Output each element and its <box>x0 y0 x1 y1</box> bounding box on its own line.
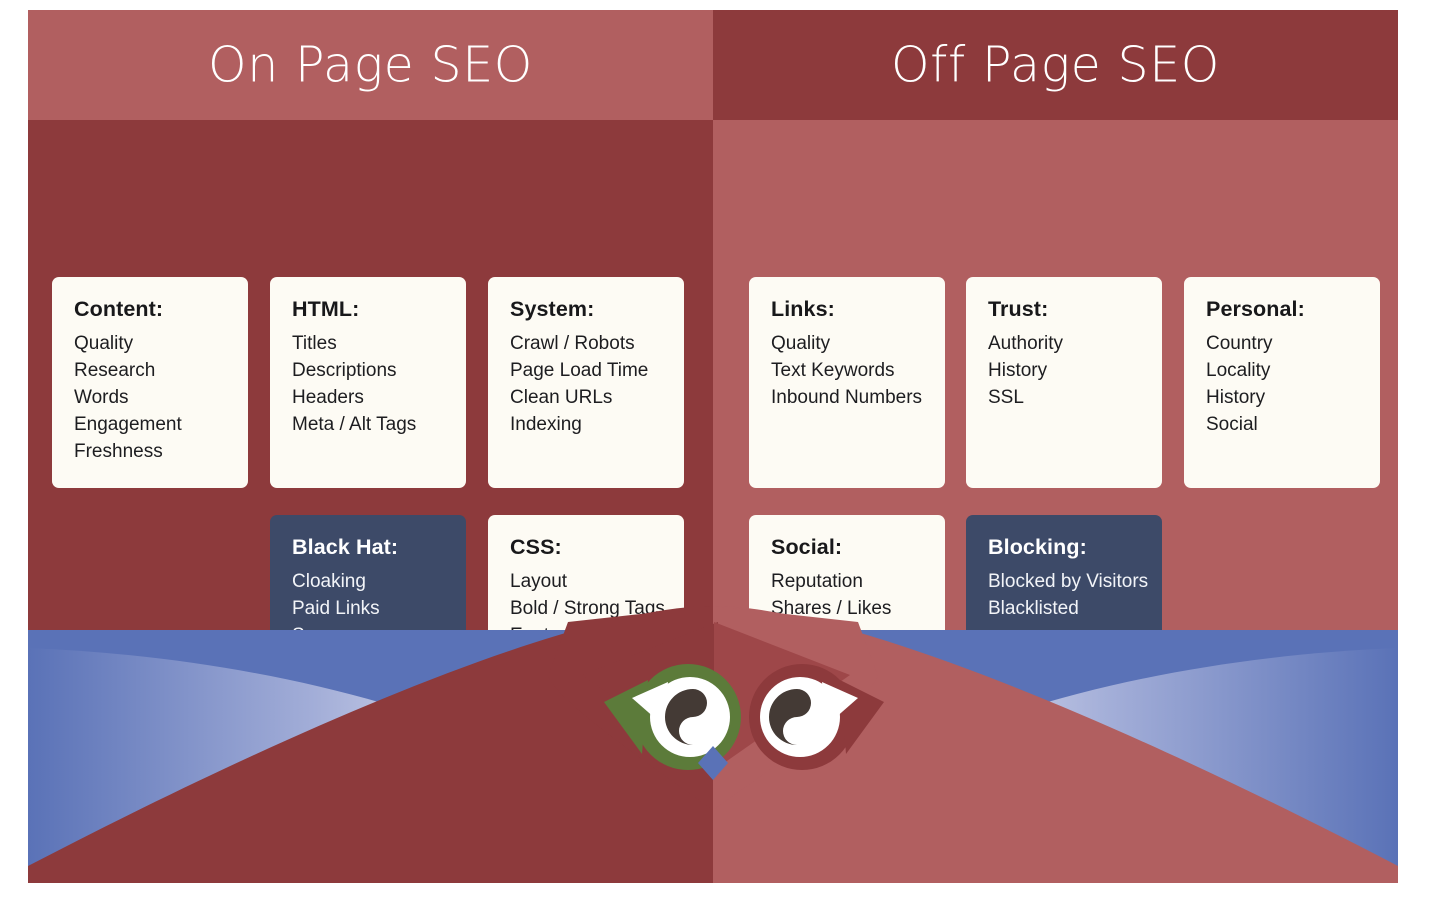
list-item: Descriptions <box>292 357 444 384</box>
list-item: Bold / Strong Tags <box>510 595 662 622</box>
card-title: Trust: <box>988 297 1140 323</box>
panel-on-page-seo: On Page SEO Content: Quality Research Wo… <box>28 10 713 630</box>
list-item: Crawl / Robots <box>510 330 662 357</box>
card-trust[interactable]: Trust: Authority History SSL <box>966 277 1162 488</box>
list-item: Titles <box>292 330 444 357</box>
card-title: System: <box>510 297 662 323</box>
card-blocking[interactable]: Blocking: Blocked by Visitors Blackliste… <box>966 515 1162 630</box>
list-item: Meta / Alt Tags <box>292 411 444 438</box>
footer-gradient-shape <box>28 630 1398 883</box>
card-title: HTML: <box>292 297 444 323</box>
card-personal[interactable]: Personal: Country Locality History Socia… <box>1184 277 1380 488</box>
list-item: Text Keywords <box>771 357 923 384</box>
footer-label-right: Earned <box>713 776 1398 823</box>
header-title-right: Off Page SEO <box>713 41 1398 90</box>
list-item: Em tags <box>510 622 662 630</box>
list-item: Research <box>74 357 226 384</box>
list-item: History <box>1206 384 1358 411</box>
card-items: Crawl / Robots Page Load Time Clean URLs… <box>510 330 662 438</box>
list-item: Authority <box>988 330 1140 357</box>
list-item: Country <box>1206 330 1358 357</box>
list-item: Blocked by Visitors <box>988 568 1140 595</box>
list-item: SSL <box>988 384 1140 411</box>
list-item: History <box>988 357 1140 384</box>
card-items: Authority History SSL <box>988 330 1140 411</box>
header-on-page-seo: On Page SEO <box>28 10 713 120</box>
list-item: Words <box>74 384 226 411</box>
list-item: Locality <box>1206 357 1358 384</box>
list-item: Social <box>1206 411 1358 438</box>
list-item: Shares / Likes <box>771 595 923 622</box>
card-items: Layout Bold / Strong Tags Em tags <box>510 568 662 630</box>
card-system[interactable]: System: Crawl / Robots Page Load Time Cl… <box>488 277 684 488</box>
list-item: Indexing <box>510 411 662 438</box>
card-html[interactable]: HTML: Titles Descriptions Headers Meta /… <box>270 277 466 488</box>
card-items: Blocked by Visitors Blacklisted <box>988 568 1140 622</box>
card-title: Content: <box>74 297 226 323</box>
card-title: Social: <box>771 535 923 561</box>
infographic-stage: On Page SEO Content: Quality Research Wo… <box>28 10 1398 883</box>
list-item: Cloaking <box>292 568 444 595</box>
panel-off-page-seo: Off Page SEO Links: Quality Text Keyword… <box>713 10 1398 630</box>
list-item: Clean URLs <box>510 384 662 411</box>
list-item: Inbound Numbers <box>771 384 923 411</box>
card-items: Quality Research Words Engagement Freshn… <box>74 330 226 465</box>
list-item: Spam <box>292 622 444 630</box>
card-social[interactable]: Social: Reputation Shares / Likes Links <box>749 515 945 630</box>
card-links[interactable]: Links: Quality Text Keywords Inbound Num… <box>749 277 945 488</box>
list-item: Headers <box>292 384 444 411</box>
list-item: Engagement <box>74 411 226 438</box>
list-item: Page Load Time <box>510 357 662 384</box>
list-item: Links <box>771 622 923 630</box>
card-items: Titles Descriptions Headers Meta / Alt T… <box>292 330 444 438</box>
list-item: Freshness <box>74 438 226 465</box>
list-item: Layout <box>510 568 662 595</box>
card-items: Country Locality History Social <box>1206 330 1358 438</box>
card-content[interactable]: Content: Quality Research Words Engageme… <box>52 277 248 488</box>
list-item: Quality <box>771 330 923 357</box>
card-title: Personal: <box>1206 297 1358 323</box>
list-item: Blacklisted <box>988 595 1140 622</box>
list-item: Paid Links <box>292 595 444 622</box>
header-off-page-seo: Off Page SEO <box>713 10 1398 120</box>
panel-body-right: Links: Quality Text Keywords Inbound Num… <box>713 120 1398 630</box>
card-items: Cloaking Paid Links Spam Stuffing <box>292 568 444 630</box>
card-items: Reputation Shares / Likes Links <box>771 568 923 630</box>
footer-label-left: In Your Control <box>28 776 713 823</box>
card-title: Links: <box>771 297 923 323</box>
card-css[interactable]: CSS: Layout Bold / Strong Tags Em tags <box>488 515 684 630</box>
header-title-left: On Page SEO <box>28 41 713 90</box>
footer-band: In Your Control Earned <box>28 630 1398 883</box>
card-title: CSS: <box>510 535 662 561</box>
card-title: Black Hat: <box>292 535 444 561</box>
card-items: Quality Text Keywords Inbound Numbers <box>771 330 923 411</box>
card-black-hat[interactable]: Black Hat: Cloaking Paid Links Spam Stuf… <box>270 515 466 630</box>
card-title: Blocking: <box>988 535 1140 561</box>
panel-body-left: Content: Quality Research Words Engageme… <box>28 120 713 630</box>
list-item: Reputation <box>771 568 923 595</box>
list-item: Quality <box>74 330 226 357</box>
